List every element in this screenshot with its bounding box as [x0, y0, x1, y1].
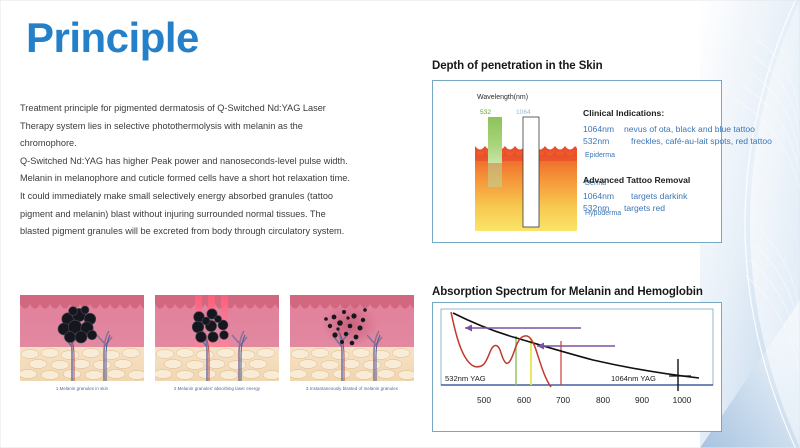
wavelength-axis-label: Wavelength(nm)	[477, 94, 528, 101]
bar-532nm	[488, 117, 502, 163]
illustration-caption: 3.Instantaneously blasted of melanin gra…	[290, 386, 414, 391]
x-tick-label: 900	[635, 395, 649, 405]
x-tick-label: 800	[596, 395, 610, 405]
intro-paragraph: Treatment principle for pigmented dermat…	[20, 100, 410, 241]
indication-description: nevus of ota, black and blue tattoo	[624, 123, 755, 136]
illustration-caption: 1.Melanin granules in skin	[20, 386, 144, 391]
annotation-532nm-yag: 532nm YAG	[445, 374, 486, 383]
clinical-indications-block: Clinical Indications: 1064nm nevus of ot…	[583, 108, 772, 148]
skin-penetration-diagram: Wavelength(nm) 532 1064 Epiderma Derma H…	[433, 81, 721, 242]
skin-illustration-1	[20, 295, 144, 381]
advanced-tattoo-removal-block: Advanced Tattoo Removal 1064nm targets d…	[583, 175, 690, 215]
illustration-caption: 2.Melanin granules' absorbing laser ener…	[155, 386, 279, 391]
x-tick-label: 600	[517, 395, 531, 405]
x-tick-label: 700	[556, 395, 570, 405]
indication-description: targets darkink	[624, 190, 687, 203]
indication-row: 1064nm nevus of ota, black and blue tatt…	[583, 123, 772, 136]
indication-description: freckles, café-au-lait spots, red tattoo	[624, 135, 772, 148]
illustration-strip: 1.Melanin granules in skin	[20, 295, 415, 391]
intro-line: Treatment principle for pigmented dermat…	[20, 100, 410, 118]
indication-row: 1064nm targets darkink	[583, 190, 690, 203]
indications-heading: Clinical Indications:	[583, 108, 772, 118]
absorption-spectrum-chart: 532nm YAG 1064nm YAG 500 600 700 800 900…	[433, 303, 721, 431]
bar-532nm-penetration	[488, 163, 502, 187]
indication-description: targets red	[624, 202, 665, 215]
intro-line: Q-Switched Nd:YAG has higher Peak power …	[20, 153, 410, 171]
indication-row: 532nm freckles, café-au-lait spots, red …	[583, 135, 772, 148]
depth-section-title: Depth of penetration in the Skin	[432, 60, 603, 72]
bar-label-1064: 1064	[516, 109, 531, 116]
intro-line: Therapy system lies in selective phototh…	[20, 118, 410, 136]
illustration-card: 3.Instantaneously blasted of melanin gra…	[290, 295, 414, 391]
annotation-1064nm-yag: 1064nm YAG	[611, 374, 656, 383]
indication-wavelength: 1064nm	[583, 190, 624, 203]
bar-label-532: 532	[480, 109, 491, 116]
x-tick-label: 500	[477, 395, 491, 405]
layer-label-epiderma: Epiderma	[585, 152, 615, 159]
indication-wavelength: 532nm	[583, 135, 624, 148]
indication-row: 532nm targets red	[583, 202, 690, 215]
illustration-card: 2.Melanin granules' absorbing laser ener…	[155, 295, 279, 391]
indications-heading: Advanced Tattoo Removal	[583, 175, 690, 185]
spectrum-section-title: Absorption Spectrum for Melanin and Hemo…	[432, 286, 703, 298]
skin-illustration-3	[290, 295, 414, 381]
x-tick-label: 1000	[673, 395, 692, 405]
skin-illustration-2	[155, 295, 279, 381]
intro-line: pigment and melanin) blast without injur…	[20, 206, 410, 224]
page-title: Principle	[26, 14, 199, 62]
illustration-card: 1.Melanin granules in skin	[20, 295, 144, 391]
intro-line: It could immediately make small selectiv…	[20, 188, 410, 206]
intro-line: Melanin in melanophore and cuticle forme…	[20, 170, 410, 188]
indication-wavelength: 532nm	[583, 202, 624, 215]
intro-line: chromophore.	[20, 135, 410, 153]
intro-line: blasted pigment granules will be excrete…	[20, 223, 410, 241]
x-tick-labels: 500 600 700 800 900 1000	[477, 395, 692, 405]
bar-1064nm	[523, 117, 539, 227]
indication-wavelength: 1064nm	[583, 123, 624, 136]
